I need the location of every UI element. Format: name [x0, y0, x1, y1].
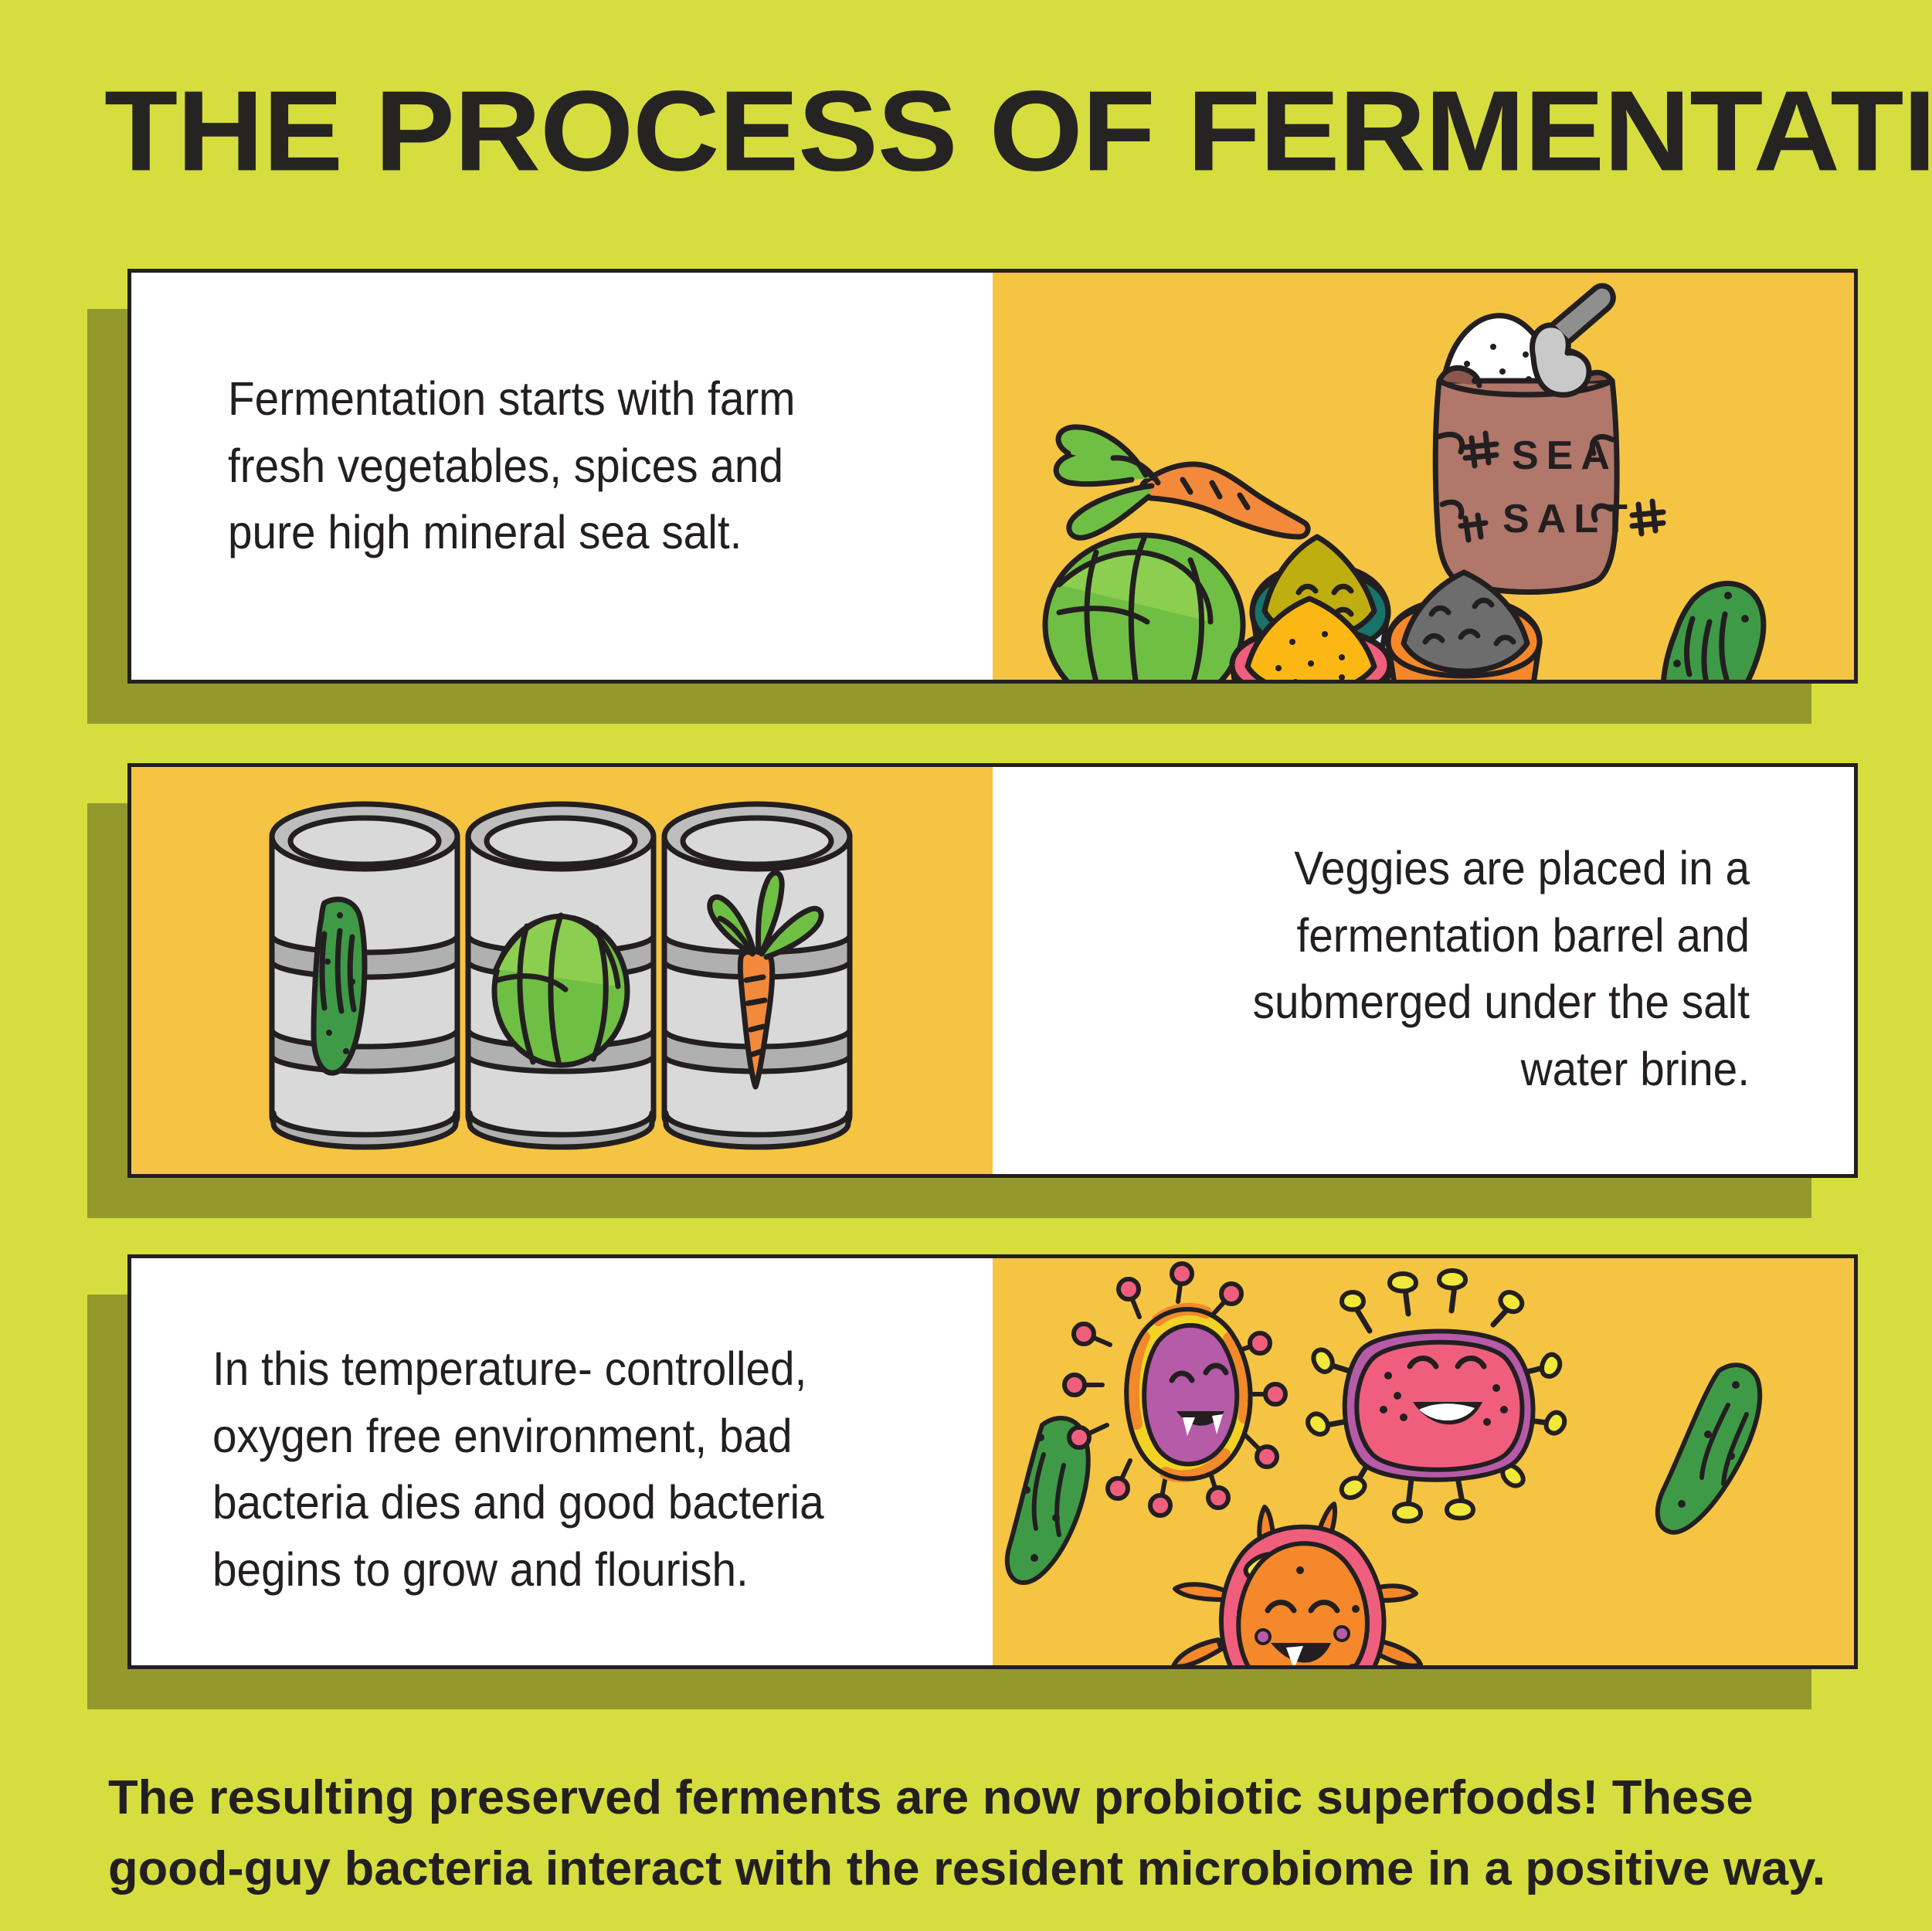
sea-salt-and-vegetables-illustration: SEA SALT [993, 273, 1854, 680]
card-2-text: Veggies are placed in a fermentation bar… [1204, 835, 1750, 1102]
card-3-body: In this temperature- controlled, oxygen … [127, 1254, 1858, 1669]
infographic-page: THE PROCESS OF FERMENTATION Fermentation… [0, 0, 1932, 1931]
card-1-art-panel: SEA SALT [993, 273, 1854, 680]
bacteria-pink [1308, 1271, 1564, 1522]
card-3: In this temperature- controlled, oxygen … [87, 1254, 1858, 1749]
pickle-right [1658, 1365, 1760, 1532]
bacteria-purple [1064, 1264, 1285, 1515]
card-1-text: Fermentation starts with farm fresh vege… [228, 365, 831, 566]
footer-text: The resulting preserved ferments are now… [108, 1763, 1896, 1905]
page-title: THE PROCESS OF FERMENTATION [104, 74, 1932, 188]
barrel-2 [468, 804, 654, 1147]
card-3-text-panel: In this temperature- controlled, oxygen … [131, 1258, 993, 1665]
card-2-text-panel: Veggies are placed in a fermentation bar… [993, 767, 1854, 1174]
bacteria-orange [1173, 1504, 1421, 1665]
card-1-body: Fermentation starts with farm fresh vege… [127, 269, 1858, 684]
sea-salt-label-line2: SALT [1502, 497, 1635, 541]
sea-salt-label-line1: SEA [1512, 433, 1618, 478]
card-2-body: Veggies are placed in a fermentation bar… [127, 763, 1858, 1178]
card-3-text: In this temperature- controlled, oxygen … [212, 1335, 881, 1603]
bacteria-characters-illustration [993, 1258, 1854, 1665]
card-3-art-panel [993, 1258, 1854, 1665]
card-2-art-panel [131, 767, 993, 1174]
card-1: Fermentation starts with farm fresh vege… [87, 269, 1858, 725]
barrel-1 [272, 804, 457, 1147]
fermentation-barrels-illustration [131, 767, 993, 1174]
card-2: Veggies are placed in a fermentation bar… [87, 763, 1858, 1257]
barrel-3 [664, 804, 850, 1147]
card-1-text-panel: Fermentation starts with farm fresh vege… [131, 273, 993, 680]
